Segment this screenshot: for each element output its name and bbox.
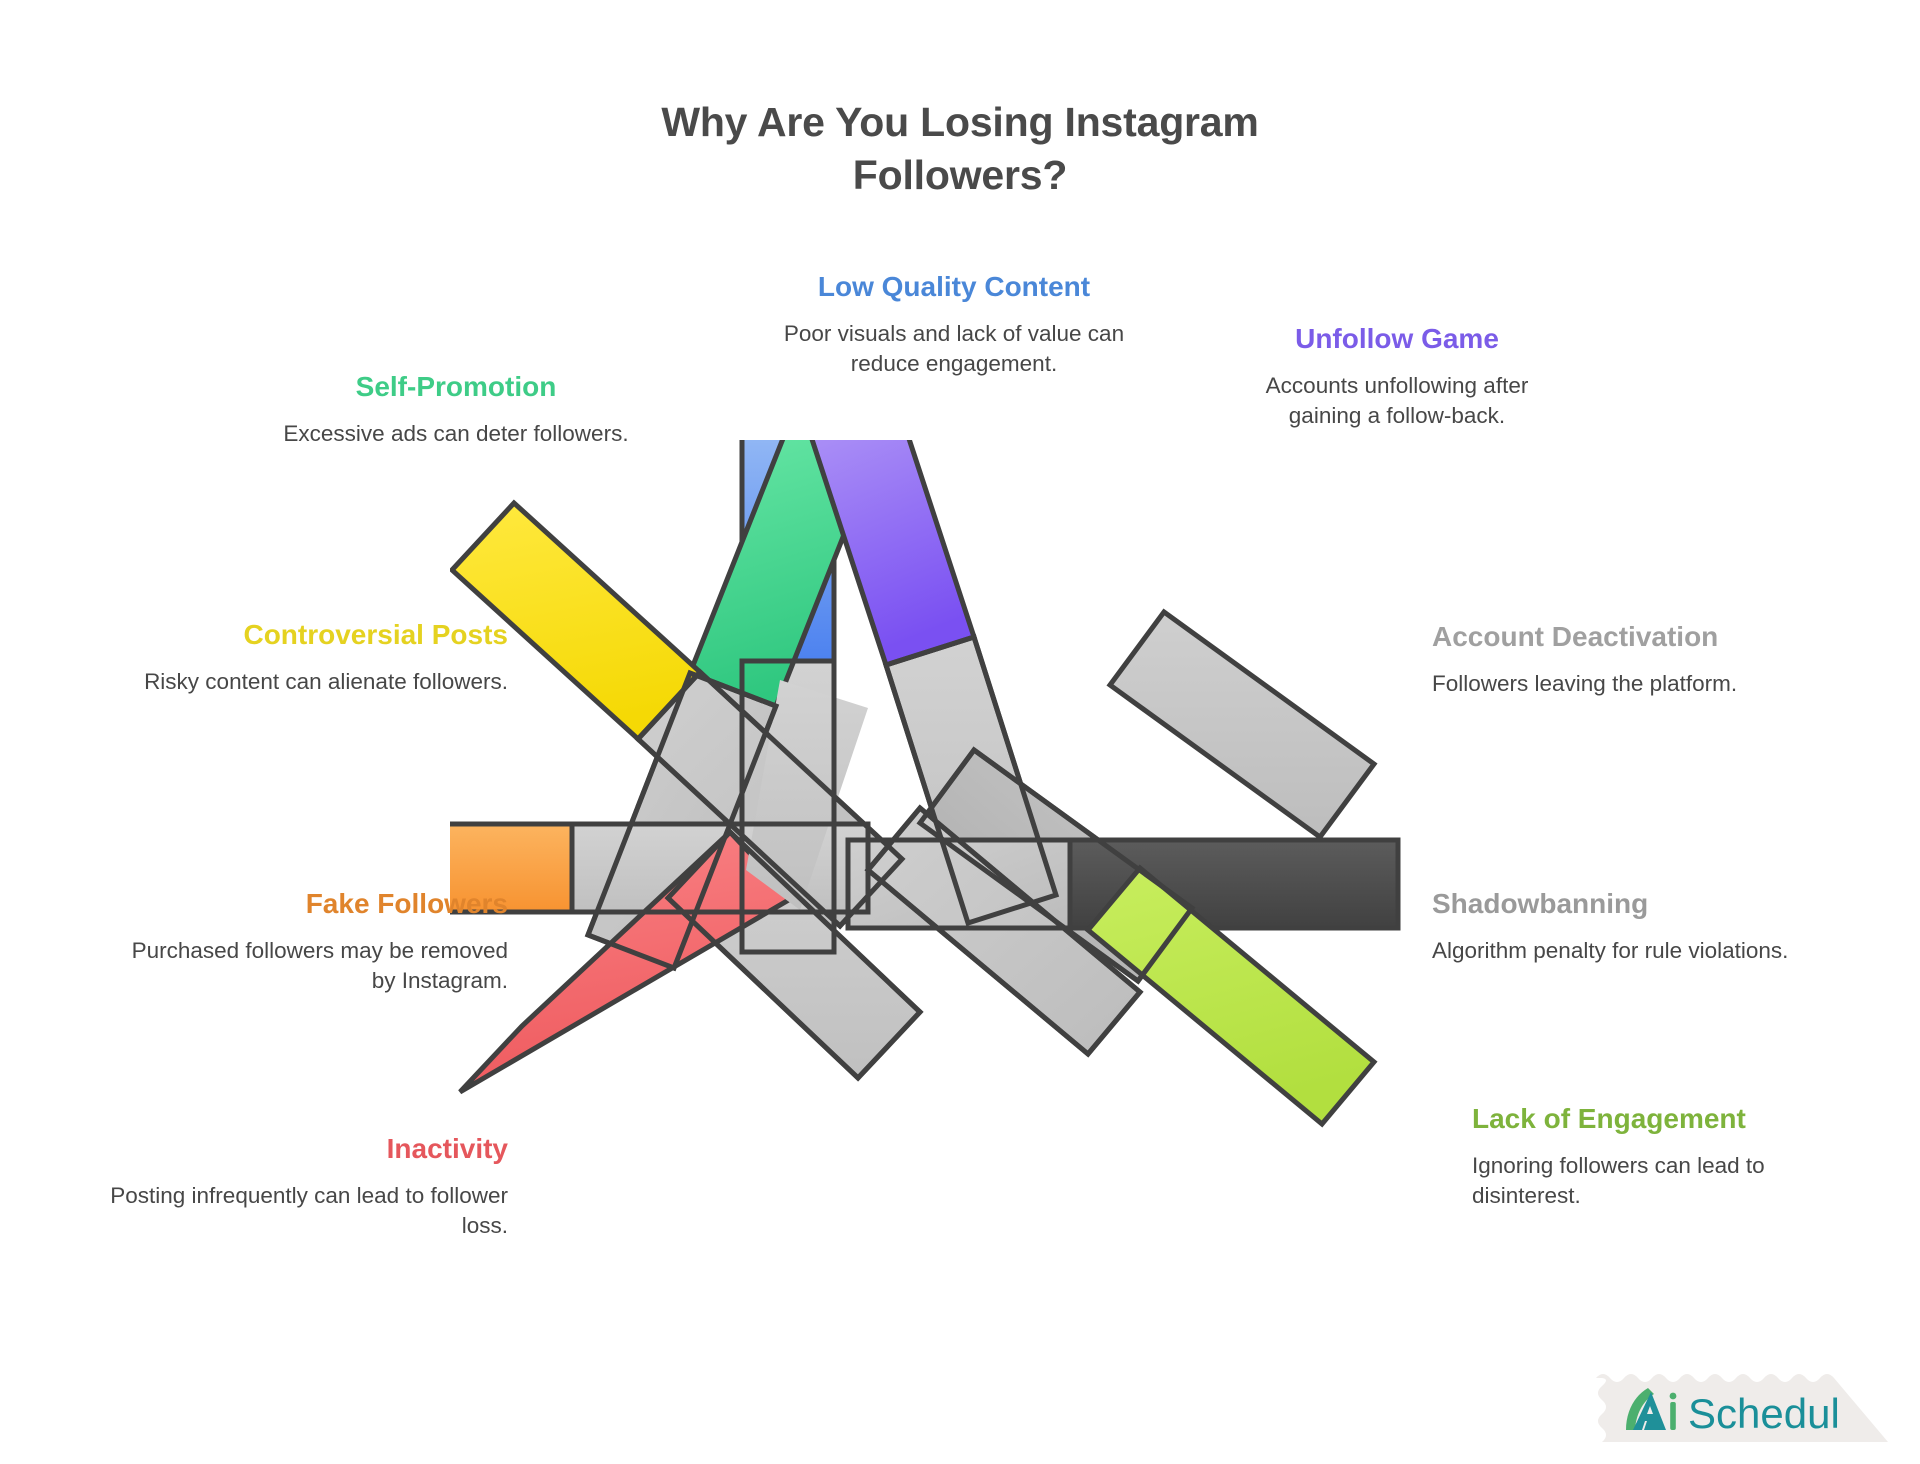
label-desc-unfollow-game: Accounts unfollowing after gaining a fol… (1232, 371, 1562, 430)
label-desc-inactivity: Posting infrequently can lead to followe… (108, 1181, 508, 1240)
label-unfollow-game: Unfollow Game Accounts unfollowing after… (1232, 320, 1562, 431)
label-desc-account-deactivation: Followers leaving the platform. (1432, 669, 1772, 699)
label-account-deactivation: Account Deactivation Followers leaving t… (1432, 618, 1772, 699)
label-heading-unfollow-game: Unfollow Game (1232, 320, 1562, 357)
label-heading-controversial-posts: Controversial Posts (108, 616, 508, 653)
label-heading-inactivity: Inactivity (108, 1130, 508, 1167)
label-self-promotion: Self-Promotion Excessive ads can deter f… (272, 368, 640, 449)
label-heading-fake-followers: Fake Followers (108, 885, 508, 922)
label-lack-of-engagement: Lack of Engagement Ignoring followers ca… (1472, 1100, 1812, 1211)
label-low-quality-content: Low Quality Content Poor visuals and lac… (770, 268, 1138, 379)
label-desc-self-promotion: Excessive ads can deter followers. (272, 419, 640, 449)
label-heading-shadowbanning: Shadowbanning (1432, 885, 1832, 922)
label-shadowbanning: Shadowbanning Algorithm penalty for rule… (1432, 885, 1832, 966)
pinwheel-chart (450, 440, 1470, 1260)
label-fake-followers: Fake Followers Purchased followers may b… (108, 885, 508, 996)
label-desc-fake-followers: Purchased followers may be removed by In… (108, 936, 508, 995)
label-inactivity: Inactivity Posting infrequently can lead… (108, 1130, 508, 1241)
label-heading-low-quality-content: Low Quality Content (770, 268, 1138, 305)
label-desc-lack-of-engagement: Ignoring followers can lead to disintere… (1472, 1151, 1812, 1210)
pinwheel-svg (450, 440, 1470, 1260)
aischedul-logo: Schedul (1588, 1368, 1888, 1452)
label-heading-self-promotion: Self-Promotion (272, 368, 640, 405)
label-desc-controversial-posts: Risky content can alienate followers. (108, 667, 508, 697)
logo-wordmark: Schedul (1688, 1390, 1840, 1437)
label-desc-low-quality-content: Poor visuals and lack of value can reduc… (770, 319, 1138, 378)
label-heading-account-deactivation: Account Deactivation (1432, 618, 1772, 655)
label-heading-lack-of-engagement: Lack of Engagement (1472, 1100, 1812, 1137)
logo-svg: Schedul (1588, 1368, 1888, 1452)
label-desc-shadowbanning: Algorithm penalty for rule violations. (1432, 936, 1832, 966)
label-controversial-posts: Controversial Posts Risky content can al… (108, 616, 508, 697)
page-title: Why Are You Losing Instagram Followers? (560, 96, 1360, 203)
